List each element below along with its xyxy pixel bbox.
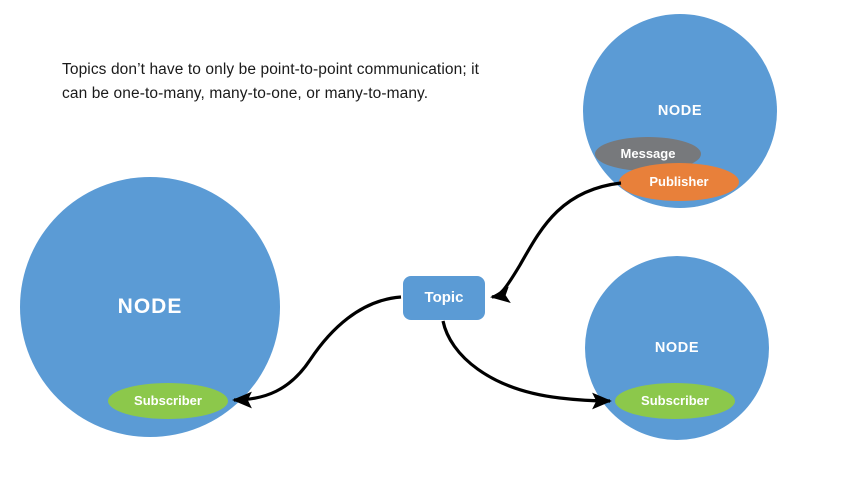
publisher-ellipse[interactable] xyxy=(619,163,739,201)
arrow-topic-to-subscriber-bottom-right xyxy=(443,321,610,401)
caption-text: Topics don’t have to only be point-to-po… xyxy=(62,58,482,105)
topic-box[interactable] xyxy=(403,276,485,320)
subscriber-ellipse-left[interactable] xyxy=(108,383,228,419)
diagram-canvas: Topics don’t have to only be point-to-po… xyxy=(0,0,854,480)
arrow-publisher-to-topic xyxy=(492,183,621,297)
subscriber-ellipse-bottom-right[interactable] xyxy=(615,383,735,419)
